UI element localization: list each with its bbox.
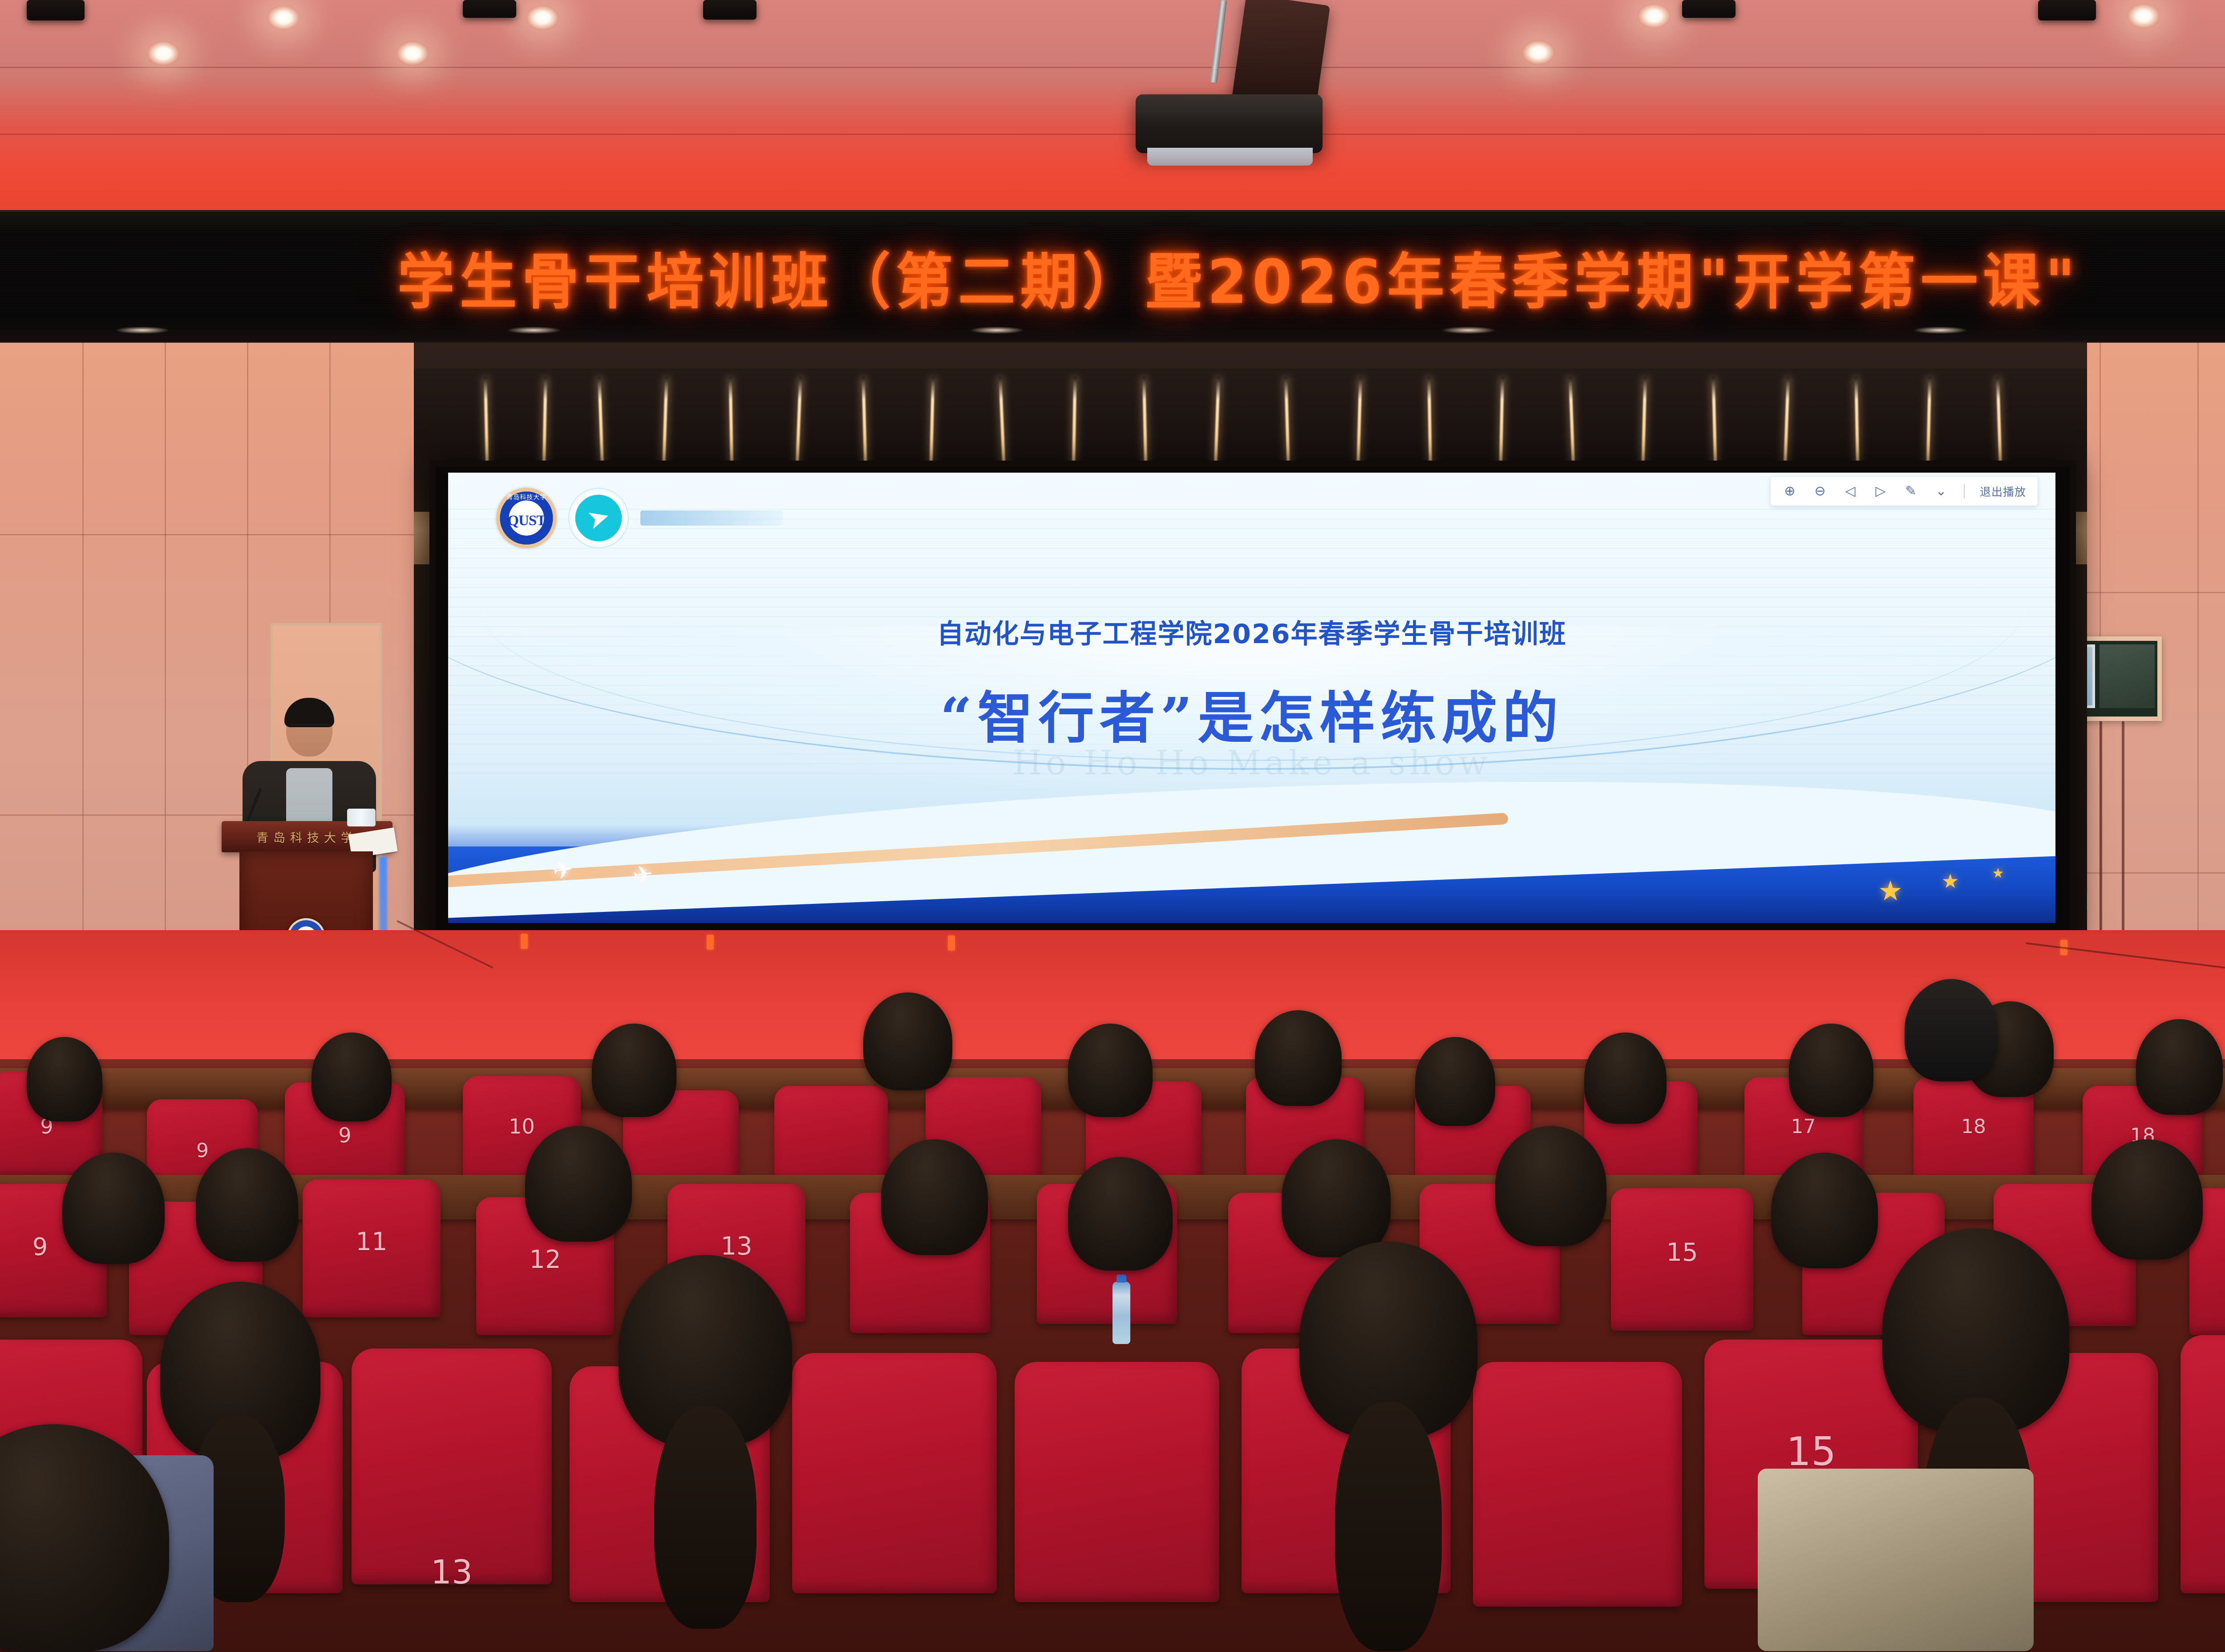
seat-number: 9 xyxy=(32,1233,48,1261)
seat-number: 15 xyxy=(1786,1429,1836,1474)
ceiling-projector xyxy=(1136,94,1323,153)
ceiling xyxy=(0,0,2225,211)
audience-head xyxy=(196,1148,298,1262)
auditorium-seat[interactable] xyxy=(792,1353,997,1593)
toolbar-divider xyxy=(1964,484,1965,498)
audience-head xyxy=(1584,1032,1667,1124)
led-banner-text: 学生骨干培训班（第二期）暨2026年春季学期"开学第一课" xyxy=(380,233,2098,320)
seat-number: 15 xyxy=(1666,1238,1698,1267)
seat-number: 13 xyxy=(720,1232,752,1261)
ceiling-track-light xyxy=(2038,0,2096,20)
speaker-head xyxy=(286,700,332,757)
audience-head xyxy=(525,1126,632,1242)
qust-seal-mark: QUST xyxy=(496,513,557,529)
audience-head xyxy=(1789,1024,1873,1117)
ppt-playback-toolbar[interactable]: ⊕ ⊖ ◁ ▷ ✎ ⌄ 退出播放 xyxy=(1771,477,2038,506)
audience-head xyxy=(863,992,952,1090)
audience-head xyxy=(2091,1139,2203,1259)
water-bottle xyxy=(1112,1282,1130,1344)
dove-icon: ✈ xyxy=(551,857,574,884)
ceiling-downlight xyxy=(2127,4,2160,28)
ceiling-downlight xyxy=(526,5,559,30)
auditorium-seat[interactable]: 11 xyxy=(303,1179,441,1317)
auditorium-seat[interactable] xyxy=(1473,1362,1682,1607)
seat-number: 9 xyxy=(196,1139,209,1162)
college-automation-electronic-engineering-seal-icon: ➤ xyxy=(568,488,629,548)
ceiling-track-light xyxy=(463,0,516,18)
ceiling-track-light xyxy=(1682,0,1735,18)
auditorium-photo: 学生骨干培训班（第二期）暨2026年春季学期"开学第一课" xyxy=(0,0,2225,1652)
audience-head xyxy=(1771,1153,1878,1268)
seat-number: 13 xyxy=(431,1553,473,1591)
audience-head xyxy=(311,1032,392,1122)
ceiling-downlight xyxy=(396,41,429,66)
zoom-in-icon[interactable]: ⊕ xyxy=(1782,484,1797,499)
next-page-icon[interactable]: ▷ xyxy=(1873,484,1888,499)
ceiling-track-light xyxy=(703,0,756,20)
auditorium-seat[interactable]: 15 xyxy=(1611,1188,1753,1331)
stage-floor-marker xyxy=(948,935,955,951)
ceiling-track-light xyxy=(27,0,85,20)
ceiling-downlight xyxy=(267,5,300,30)
audience-head xyxy=(1255,1010,1342,1106)
audience-ponytail xyxy=(654,1406,756,1629)
star-icon: ★ xyxy=(1992,867,2004,880)
stage-floor-cable xyxy=(2026,942,2225,982)
audience-head xyxy=(1282,1139,1391,1257)
bird-icon: ➤ xyxy=(584,502,613,534)
pen-annotate-icon[interactable]: ✎ xyxy=(1903,484,1918,499)
seat-number: 17 xyxy=(1791,1115,1816,1138)
auditorium-seat[interactable] xyxy=(1015,1362,1219,1602)
seat-number: 9 xyxy=(338,1123,351,1147)
water-bottles-on-podium xyxy=(347,809,376,826)
chevron-down-icon[interactable]: ⌄ xyxy=(1934,484,1949,499)
projection-screen: 青岛科技大学 QUST ➤ 自动化与电子工程学院2026年春季学生骨干培训班 “… xyxy=(448,473,2055,923)
audience-head xyxy=(1415,1037,1495,1126)
auditorium-seat[interactable]: 13 xyxy=(352,1348,552,1584)
slide-title: “智行者”是怎样练成的 xyxy=(448,673,2055,753)
previous-page-icon[interactable]: ◁ xyxy=(1843,484,1858,499)
booth-window-dark-pane xyxy=(2100,644,2155,708)
exit-playback-button[interactable]: 退出播放 xyxy=(1980,483,2026,499)
ceiling-downlight xyxy=(147,41,180,66)
stage-floor-marker xyxy=(521,934,528,949)
slide-ghost-watermark: Ho Ho Ho Make a show xyxy=(641,743,1862,782)
audience-ponytail xyxy=(1335,1402,1442,1651)
seat-number: 18 xyxy=(1961,1115,1986,1138)
qust-university-seal-icon: 青岛科技大学 QUST xyxy=(496,488,557,548)
audience-head xyxy=(62,1153,165,1264)
stage-floor-marker xyxy=(707,935,714,950)
star-icon: ★ xyxy=(1942,872,1959,891)
qust-seal-ring-text: 青岛科技大学 xyxy=(496,493,557,502)
glasses-icon xyxy=(290,724,328,733)
audience-head xyxy=(2136,1019,2223,1115)
slide-logo-row: 青岛科技大学 QUST ➤ xyxy=(496,488,783,548)
star-icon: ★ xyxy=(1878,878,1903,905)
led-marquee-banner: 学生骨干培训班（第二期）暨2026年春季学期"开学第一课" xyxy=(0,210,2225,344)
dove-icon: ✈ xyxy=(631,862,655,888)
ceiling-downlight xyxy=(1638,4,1671,28)
draped-coat xyxy=(1758,1469,2034,1651)
audience-head xyxy=(1068,1024,1153,1117)
zoom-out-icon[interactable]: ⊖ xyxy=(1812,484,1828,499)
slide-header-accent-bar xyxy=(640,510,783,526)
slide-subtitle: 自动化与电子工程学院2026年春季学生骨干培训班 xyxy=(448,612,2055,651)
audience-head xyxy=(1495,1126,1606,1246)
auditorium-seat[interactable]: 16 xyxy=(2180,1335,2225,1593)
seat-number: 11 xyxy=(356,1227,387,1256)
audience-head xyxy=(1068,1157,1173,1271)
audience-head xyxy=(1905,979,1998,1081)
ceiling-downlight xyxy=(1522,40,1555,65)
projector-lens xyxy=(1147,148,1313,166)
speaker-hair xyxy=(284,698,334,727)
audience-head xyxy=(881,1139,988,1255)
audience-head xyxy=(592,1024,676,1117)
seat-number: 10 xyxy=(509,1114,535,1138)
audience-head xyxy=(27,1037,102,1122)
seat-number: 12 xyxy=(529,1245,561,1274)
projector-mount-rod xyxy=(1210,0,1227,83)
